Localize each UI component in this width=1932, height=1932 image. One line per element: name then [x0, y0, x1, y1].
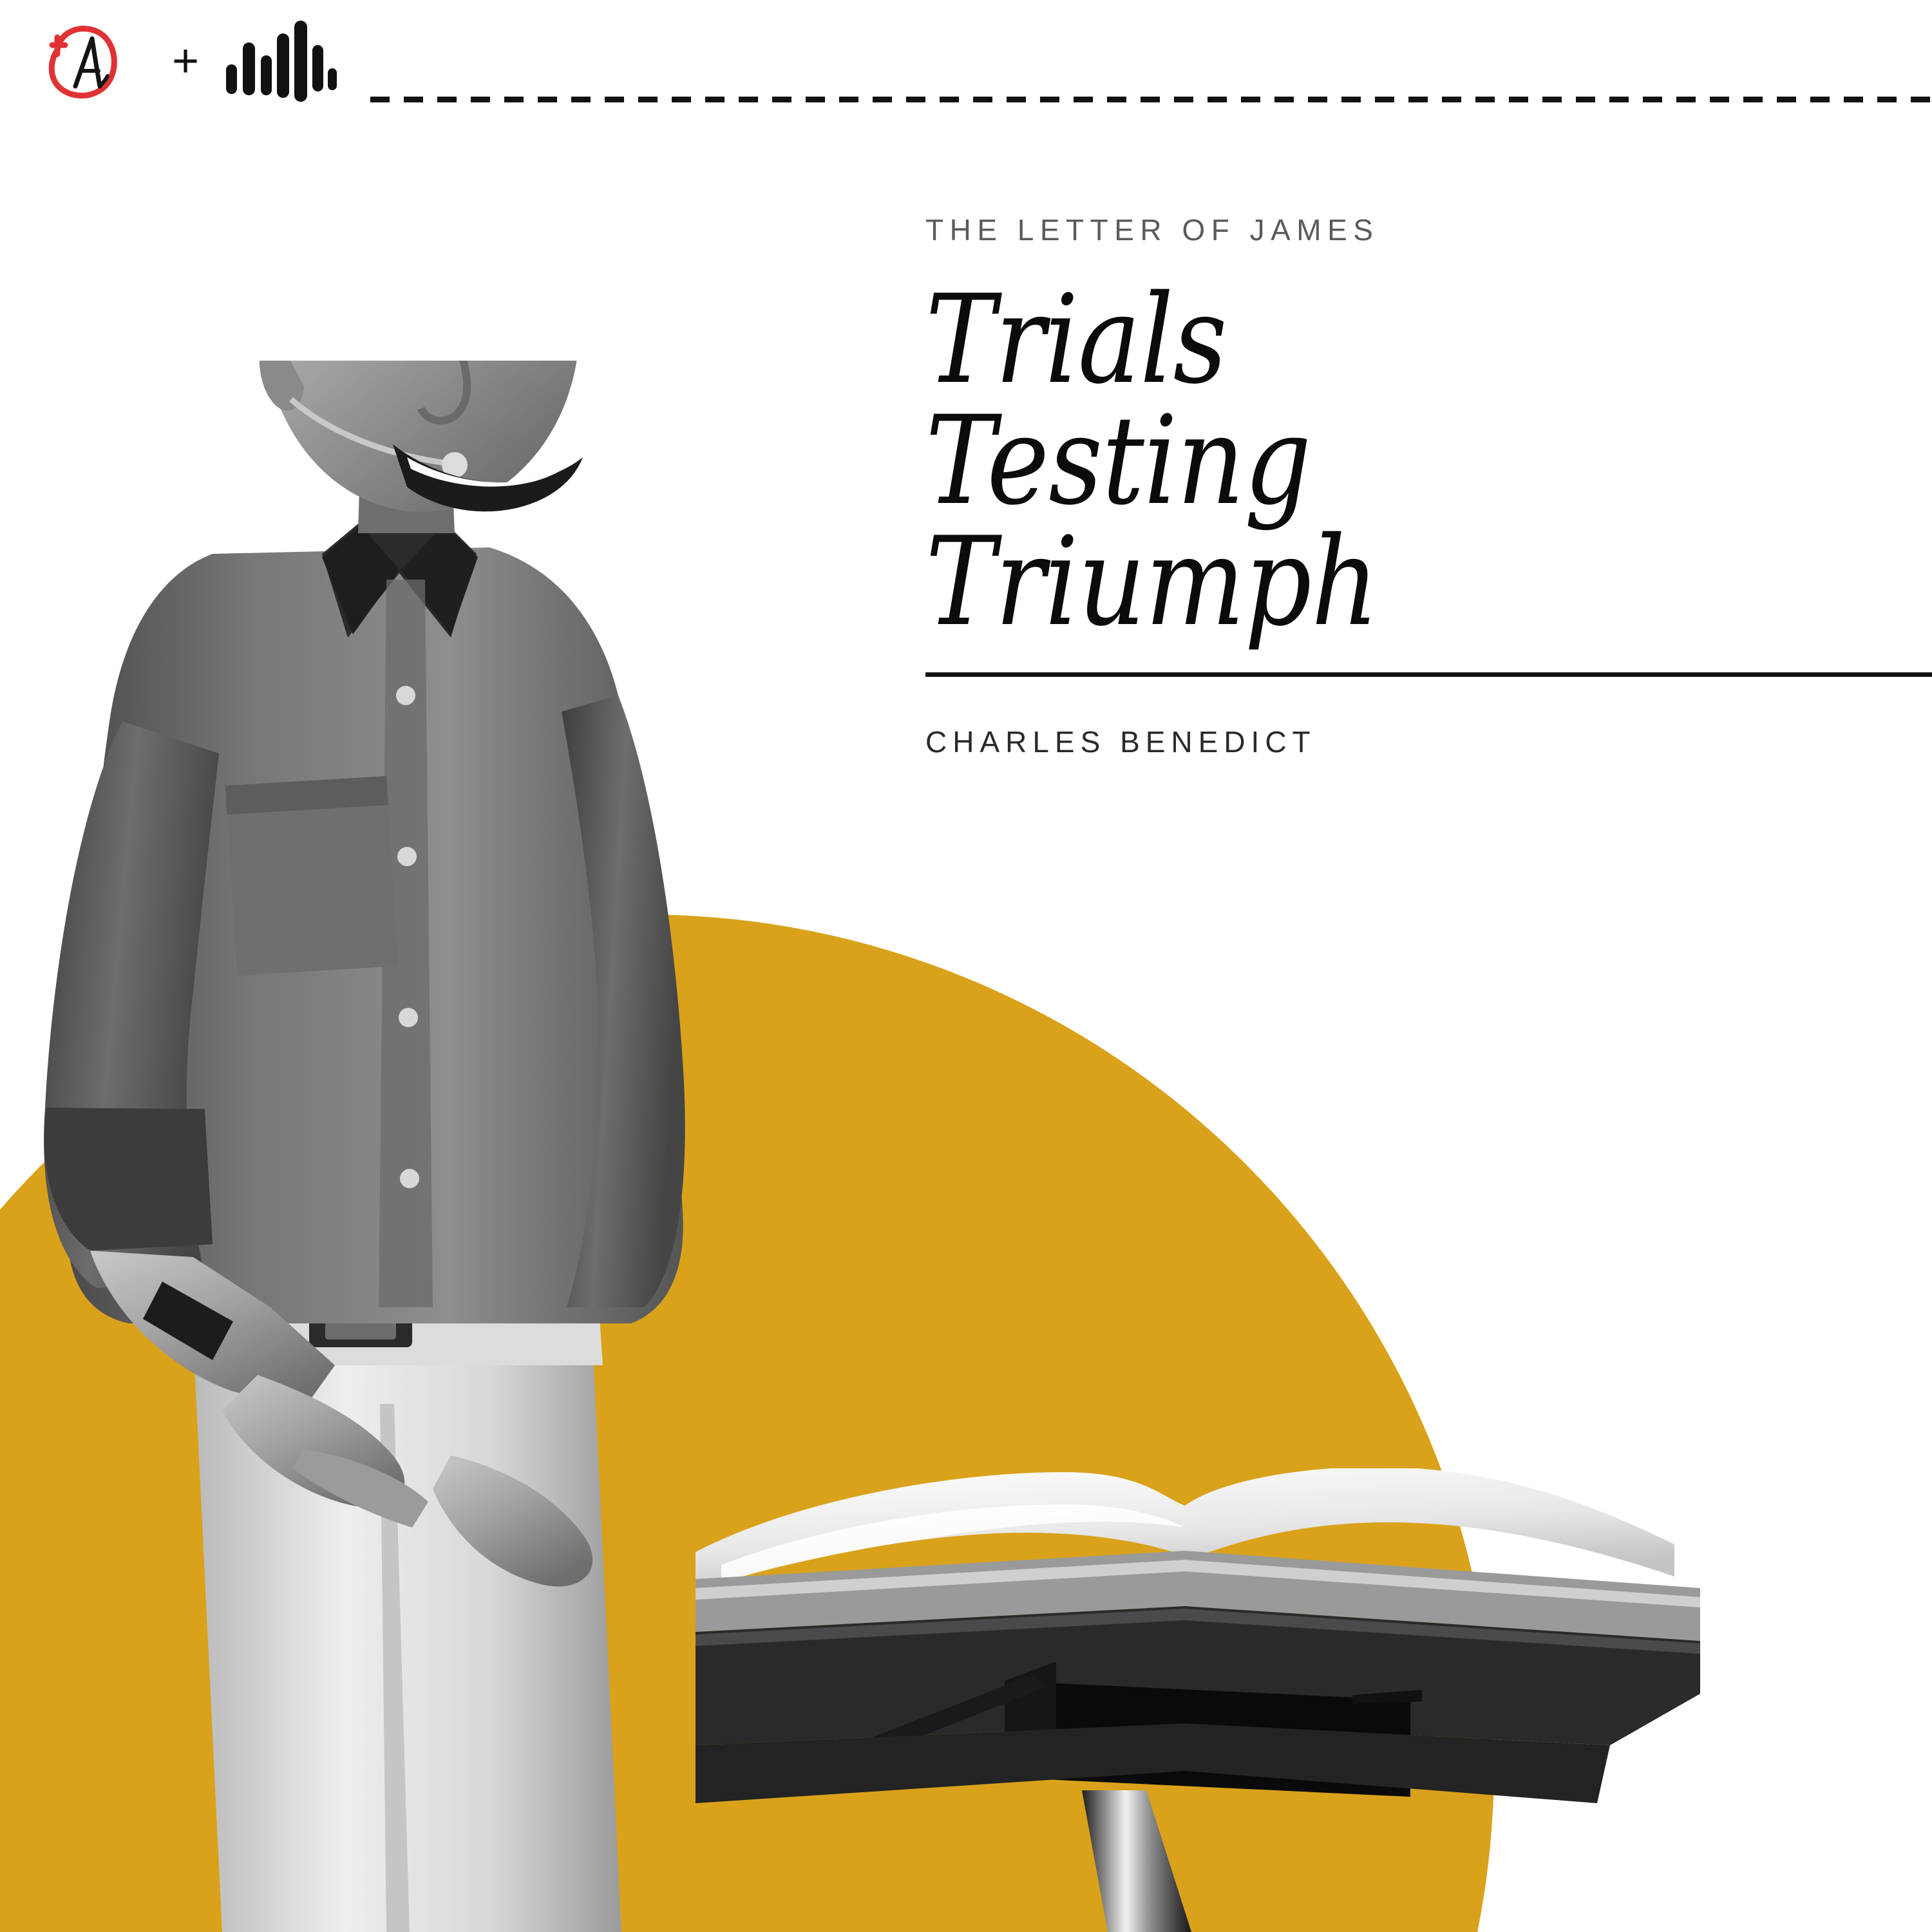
page-title: Trials Testing Triumph	[925, 279, 1932, 643]
cover-text-block: THE LETTER OF JAMES Trials Testing Trium…	[925, 213, 1932, 759]
topbar: +	[0, 0, 1932, 135]
title-line-3: Triumph	[925, 522, 1791, 643]
title-line-1: Trials	[925, 279, 1791, 401]
podcast-cover-canvas: + THE LETTER OF JAMES Trials Testing	[0, 0, 1932, 1932]
dashed-divider	[370, 97, 1932, 102]
lectern-with-open-book	[696, 1468, 1829, 1932]
circled-script-a-icon[interactable]	[35, 19, 126, 103]
plus-icon: +	[166, 32, 205, 90]
speaker-byline: CHARLES BENEDICT	[925, 724, 1932, 759]
audio-waveform-icon[interactable]	[222, 18, 338, 102]
title-divider	[925, 672, 1932, 677]
series-eyebrow: THE LETTER OF JAMES	[925, 213, 1932, 247]
title-line-2: Testing	[925, 401, 1791, 522]
